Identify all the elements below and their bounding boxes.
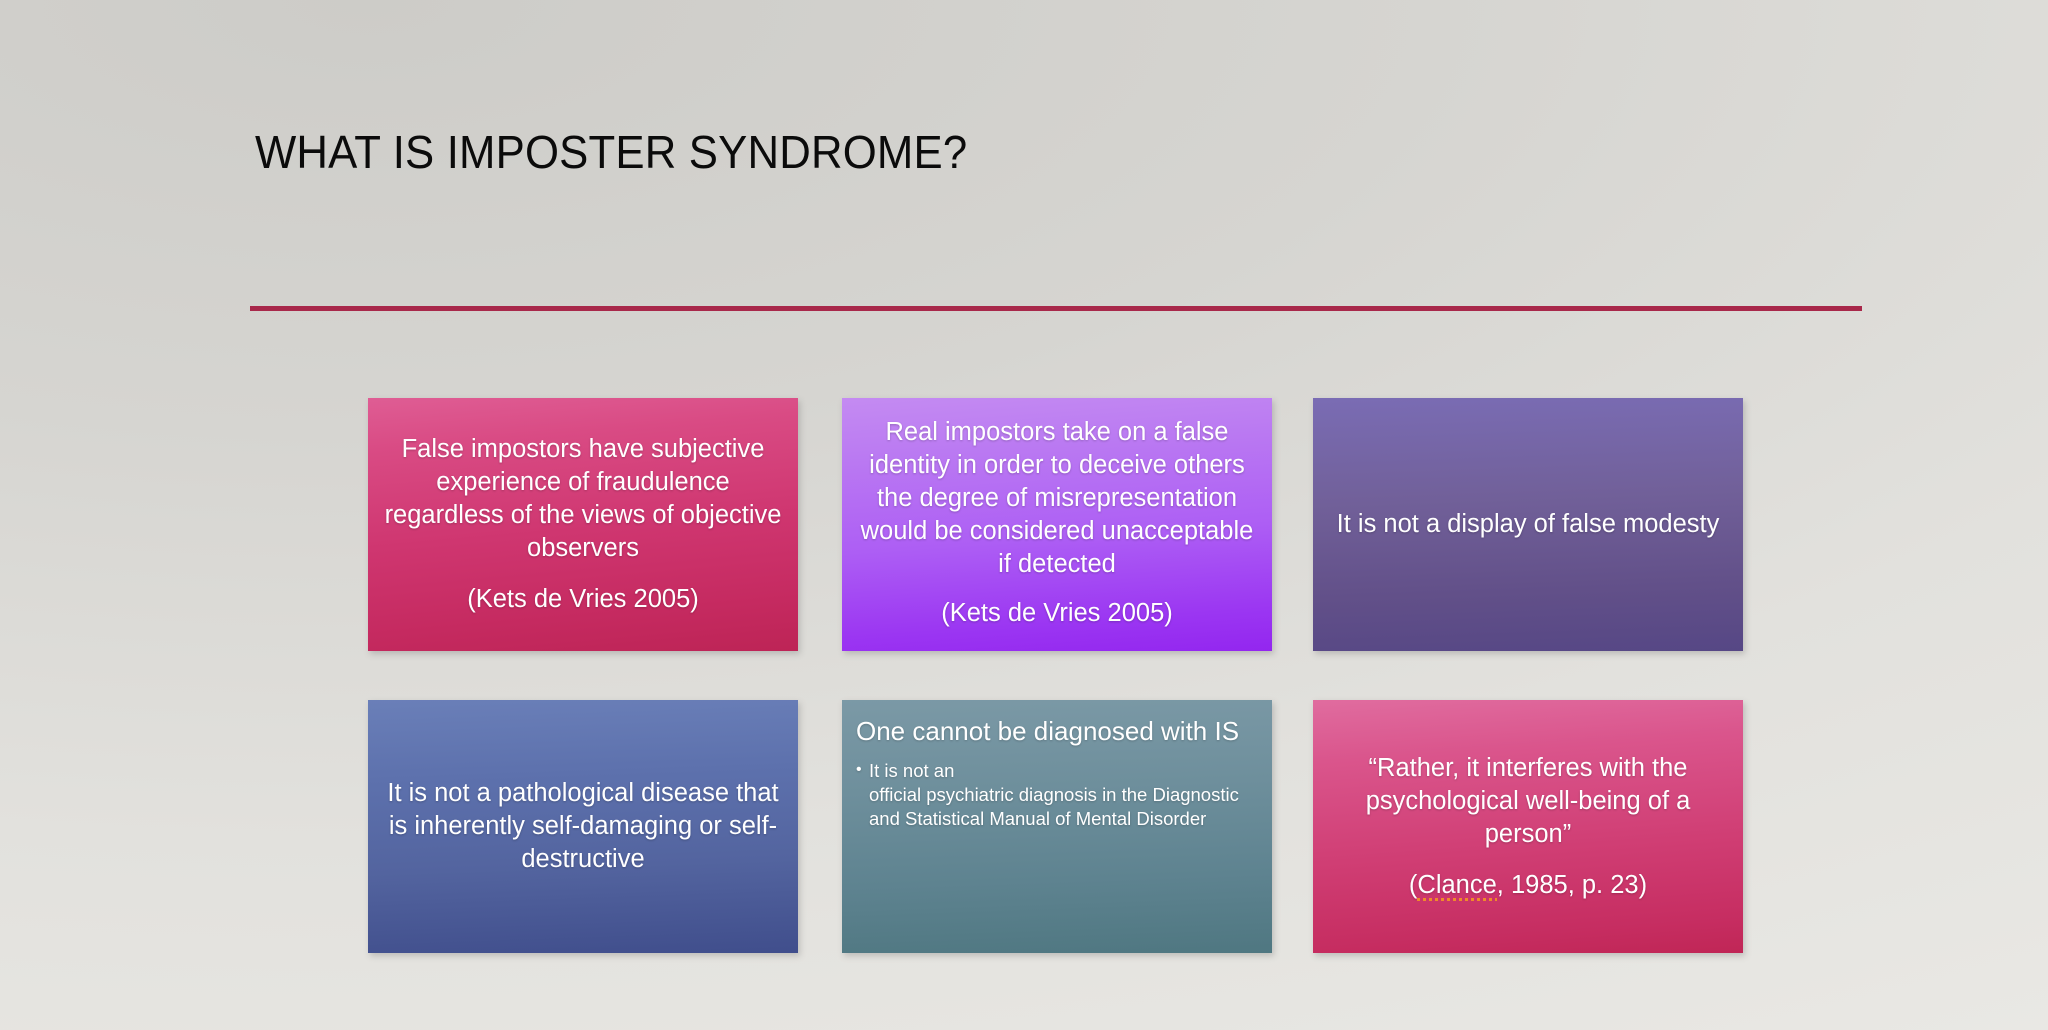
card-heading: One cannot be diagnosed with IS xyxy=(856,716,1239,747)
title-divider-rule xyxy=(250,306,1862,311)
list-item: It is not an official psychiatric diagno… xyxy=(856,759,1258,831)
card-interferes-wellbeing[interactable]: “Rather, it interferes with the psycholo… xyxy=(1313,700,1743,953)
card-content: It is not a pathological disease that is… xyxy=(368,700,798,953)
bullet-line-2: official psychiatric diagnosis in the Di… xyxy=(869,784,1239,829)
quote-line-1: “Rather, it interferes with the xyxy=(1369,754,1688,782)
card-quote-text: “Rather, it interferes with the psycholo… xyxy=(1366,752,1691,851)
card-body-text: False impostors have subjective experien… xyxy=(380,433,786,565)
card-false-impostors[interactable]: False impostors have subjective experien… xyxy=(368,398,798,651)
card-content: Real impostors take on a false identity … xyxy=(842,398,1272,651)
slide-canvas: WHAT IS IMPOSTER SYNDROME? False imposto… xyxy=(0,0,2048,1030)
card-not-false-modesty[interactable]: It is not a display of false modesty xyxy=(1313,398,1743,651)
card-real-impostors[interactable]: Real impostors take on a false identity … xyxy=(842,398,1272,651)
card-body-text: It is not a display of false modesty xyxy=(1337,508,1720,541)
card-body-text: It is not a pathological disease that is… xyxy=(380,777,786,876)
card-content: “Rather, it interferes with the psycholo… xyxy=(1313,700,1743,953)
card-cannot-be-diagnosed[interactable]: One cannot be diagnosed with IS It is no… xyxy=(842,700,1272,953)
card-content: One cannot be diagnosed with IS It is no… xyxy=(842,700,1272,953)
card-content: It is not a display of false modesty xyxy=(1313,398,1743,651)
card-body-text: Real impostors take on a false identity … xyxy=(852,416,1262,581)
card-grid: False impostors have subjective experien… xyxy=(368,398,1744,953)
card-content: False impostors have subjective experien… xyxy=(368,398,798,651)
card-not-pathological-disease[interactable]: It is not a pathological disease that is… xyxy=(368,700,798,953)
card-citation: (Clance, 1985, p. 23) xyxy=(1409,869,1647,902)
spellcheck-misspelled-word[interactable]: Clance xyxy=(1417,871,1496,901)
citation-suffix: , 1985, p. 23) xyxy=(1497,871,1647,899)
card-citation: (Kets de Vries 2005) xyxy=(467,583,699,616)
card-bullet-list: It is not an official psychiatric diagno… xyxy=(856,759,1258,831)
bullet-line-1: It is not an xyxy=(869,760,954,781)
quote-line-3: person” xyxy=(1485,820,1571,848)
quote-line-2: psychological well-being of a xyxy=(1366,787,1691,815)
card-citation: (Kets de Vries 2005) xyxy=(941,597,1173,630)
page-title: WHAT IS IMPOSTER SYNDROME? xyxy=(255,125,967,179)
